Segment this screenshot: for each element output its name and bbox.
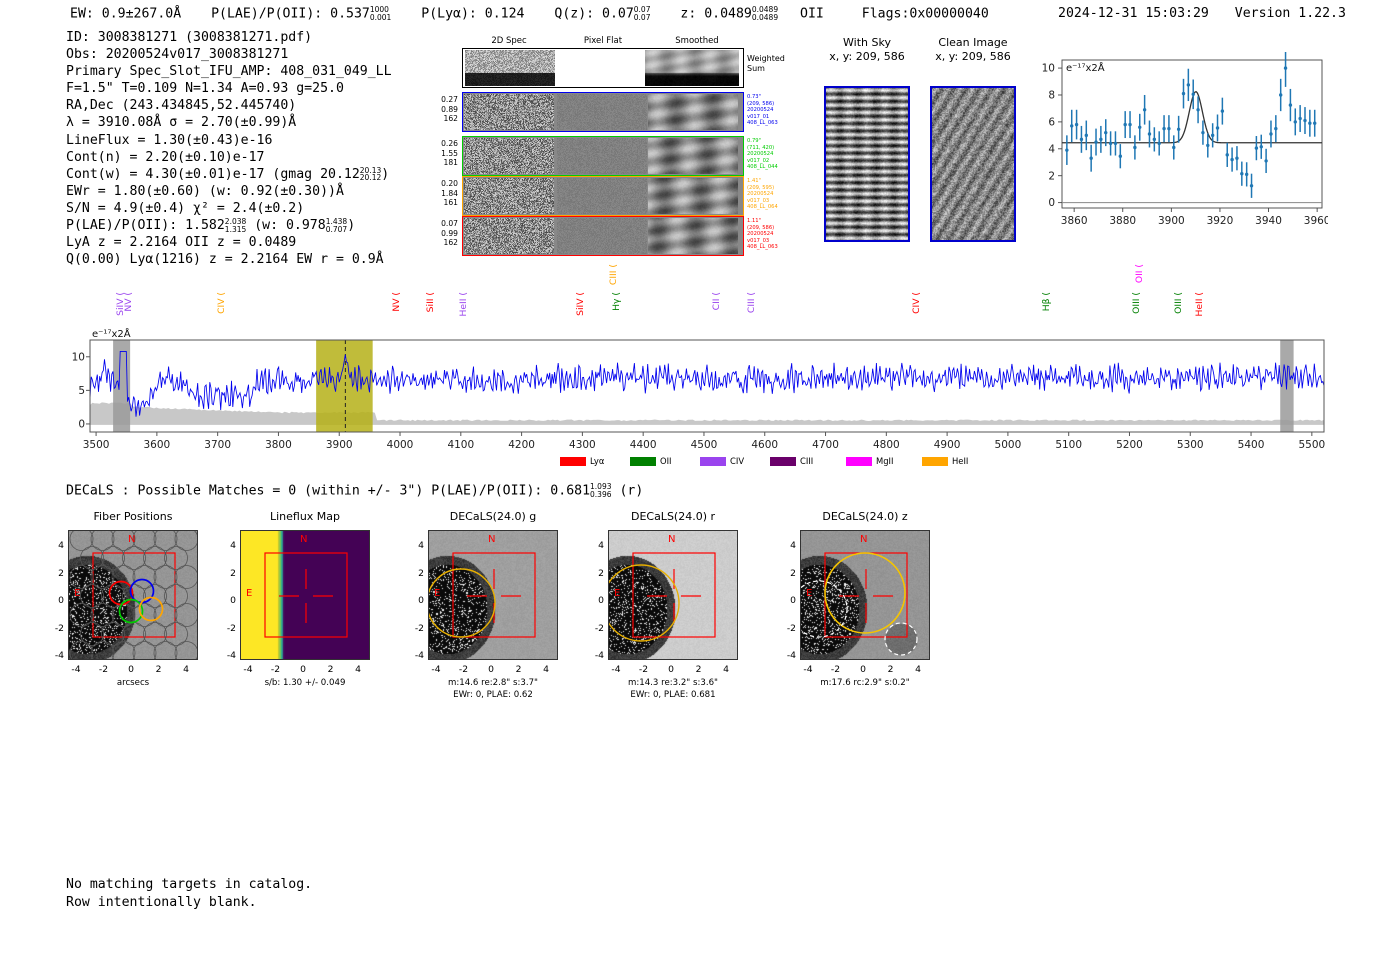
decals-header-post: (r) xyxy=(619,483,643,498)
compass-north-label: N xyxy=(488,534,495,545)
cutout-caption-line-0: m:14.3 re:3.2" s:3.6" xyxy=(578,678,768,690)
cutout-xtick: -4 xyxy=(606,664,626,675)
cutout-title: DECaLS(24.0) g xyxy=(408,510,578,523)
cutout-xtick: 0 xyxy=(481,664,501,675)
cutout-xtick: -4 xyxy=(798,664,818,675)
cutout-ytick: -4 xyxy=(588,650,604,661)
spectrum-error-band xyxy=(90,402,1324,425)
compass-north-label: N xyxy=(668,534,675,545)
decals-header-lo: 0.396 xyxy=(590,491,611,499)
cutout-title: Fiber Positions xyxy=(48,510,218,523)
cutout-overlay xyxy=(801,531,930,660)
cutout-ytick: 2 xyxy=(408,568,424,579)
cutout-caption-line-0: m:17.6 rc:2.9" s:0.2" xyxy=(770,678,960,690)
cutout-source-circle xyxy=(885,623,917,655)
compass-north-label: N xyxy=(300,534,307,545)
cutout-caption-line-0: m:14.6 re:2.8" s:3.7" xyxy=(398,678,588,690)
cutout-ytick: -2 xyxy=(780,623,796,634)
cutout-xtick: -4 xyxy=(426,664,446,675)
cutout-xtick: 4 xyxy=(536,664,556,675)
spectrum-xtick: 4100 xyxy=(447,439,474,451)
cutout-overlay xyxy=(241,531,370,660)
cutout-xtick: 0 xyxy=(121,664,141,675)
cutout-ytick: -4 xyxy=(408,650,424,661)
cutout-ytick: 0 xyxy=(588,595,604,606)
spectrum-highlight-region xyxy=(316,340,373,432)
compass-east-label: E xyxy=(246,588,252,599)
decals-cutout-row: Fiber PositionsNE420-2-4-4-2024arcsecsLi… xyxy=(0,0,1400,300)
cutout-xtick: 0 xyxy=(853,664,873,675)
cutout-xtick: -2 xyxy=(634,664,654,675)
cutout-caption: m:14.3 re:3.2" s:3.6"EWr: 0, PLAE: 0.681 xyxy=(578,678,768,701)
cutout-caption-line-1: EWr: 0, PLAE: 0.681 xyxy=(578,690,768,702)
cutout-ytick: -4 xyxy=(220,650,236,661)
full-spectrum-chart: 0510350036003700380039004000410042004300… xyxy=(66,270,1346,470)
cutout-image[interactable] xyxy=(68,530,198,660)
spectrum-xtick: 5400 xyxy=(1238,439,1265,451)
cutout-caption-line-0: s/b: 1.30 +/- 0.049 xyxy=(210,678,400,690)
cutout-aperture-circle xyxy=(609,565,679,641)
cutout-xtick: 2 xyxy=(509,664,529,675)
spectrum-xtick: 4000 xyxy=(387,439,414,451)
spectrum-xtick: 5100 xyxy=(1055,439,1082,451)
cutout-aperture-circle xyxy=(825,553,905,633)
cutout-xtick: -2 xyxy=(94,664,114,675)
cutout-ytick: 0 xyxy=(220,595,236,606)
compass-north-label: N xyxy=(128,534,135,545)
legend-label: Lyα xyxy=(590,456,604,466)
cutout-ytick: 0 xyxy=(780,595,796,606)
spectrum-xtick: 3900 xyxy=(326,439,353,451)
spectrum-xtick: 3700 xyxy=(204,439,231,451)
cutout-ytick: -2 xyxy=(48,623,64,634)
spectrum-xtick: 4500 xyxy=(691,439,718,451)
cutout-ytick: -4 xyxy=(780,650,796,661)
spectrum-xtick: 4600 xyxy=(751,439,778,451)
cutout-aperture-circle xyxy=(429,569,495,637)
cutout-image[interactable] xyxy=(240,530,370,660)
legend-swatch xyxy=(560,457,586,466)
cutout-xtick: 0 xyxy=(293,664,313,675)
spectrum-xtick: 4800 xyxy=(873,439,900,451)
compass-east-label: E xyxy=(806,588,812,599)
legend-label: CIV xyxy=(730,456,744,466)
legend-swatch xyxy=(770,457,796,466)
spectrum-xtick: 4700 xyxy=(812,439,839,451)
spectrum-xtick: 4300 xyxy=(569,439,596,451)
cutout-image[interactable] xyxy=(800,530,930,660)
compass-east-label: E xyxy=(434,588,440,599)
spectrum-xtick: 5000 xyxy=(995,439,1022,451)
spectrum-ytick: 0 xyxy=(78,418,85,430)
cutout-ytick: 2 xyxy=(48,568,64,579)
cutout-ytick: -2 xyxy=(220,623,236,634)
cutout-caption: m:14.6 re:2.8" s:3.7"EWr: 0, PLAE: 0.62 xyxy=(398,678,588,701)
full-spectrum-svg: 0510350036003700380039004000410042004300… xyxy=(66,270,1346,470)
cutout-caption: s/b: 1.30 +/- 0.049 xyxy=(210,678,400,690)
spectrum-units-annotation: e⁻¹⁷x2Å xyxy=(92,327,131,340)
spectrum-xtick: 3800 xyxy=(265,439,292,451)
cutout-title: DECaLS(24.0) r xyxy=(588,510,758,523)
cutout-overlay xyxy=(429,531,558,660)
cutout-ytick: 0 xyxy=(408,595,424,606)
cutout-image[interactable] xyxy=(608,530,738,660)
spectrum-xtick: 5500 xyxy=(1298,439,1325,451)
highlighted-fiber-circle xyxy=(110,582,133,605)
cutout-xtick: -2 xyxy=(266,664,286,675)
cutout-ytick: 4 xyxy=(780,540,796,551)
spectrum-xtick: 3600 xyxy=(143,439,170,451)
cutout-caption-line-1: EWr: 0, PLAE: 0.62 xyxy=(398,690,588,702)
cutout-ytick: -2 xyxy=(408,623,424,634)
cutout-xtick: 2 xyxy=(149,664,169,675)
legend-swatch xyxy=(700,457,726,466)
cutout-xtick: -4 xyxy=(66,664,86,675)
legend-swatch xyxy=(922,457,948,466)
spectrum-ytick: 10 xyxy=(72,351,85,363)
cutout-caption: arcsecs xyxy=(38,678,228,690)
cutout-ytick: 2 xyxy=(220,568,236,579)
cutout-ytick: 4 xyxy=(220,540,236,551)
cutout-xtick: 4 xyxy=(176,664,196,675)
cutout-title: Lineflux Map xyxy=(220,510,390,523)
cutout-xtick: 2 xyxy=(689,664,709,675)
footer-line-2: Row intentionally blank. xyxy=(66,894,312,912)
cutout-xtick: 2 xyxy=(321,664,341,675)
spectrum-xtick: 5200 xyxy=(1116,439,1143,451)
footer-note: No matching targets in catalog. Row inte… xyxy=(66,876,312,911)
legend-label: MgII xyxy=(876,456,893,466)
cutout-caption-line-0: arcsecs xyxy=(38,678,228,690)
cutout-xtick: -4 xyxy=(238,664,258,675)
cutout-image[interactable] xyxy=(428,530,558,660)
cutout-xtick: 4 xyxy=(908,664,928,675)
decals-match-header: DECaLS : Possible Matches = 0 (within +/… xyxy=(66,483,643,499)
cutout-xtick: 4 xyxy=(716,664,736,675)
cutout-xtick: -2 xyxy=(826,664,846,675)
cutout-ytick: 0 xyxy=(48,595,64,606)
spectrum-ytick: 5 xyxy=(78,385,85,397)
cutout-ytick: -2 xyxy=(588,623,604,634)
cutout-xtick: 0 xyxy=(661,664,681,675)
cutout-title: DECaLS(24.0) z xyxy=(780,510,950,523)
spectrum-xtick: 3500 xyxy=(83,439,110,451)
legend-label: OII xyxy=(660,456,672,466)
cutout-xtick: 4 xyxy=(348,664,368,675)
legend-label: HeII xyxy=(952,456,968,466)
cutout-caption: m:17.6 rc:2.9" s:0.2" xyxy=(770,678,960,690)
cutout-ytick: 2 xyxy=(588,568,604,579)
spectrum-xtick: 4200 xyxy=(508,439,535,451)
decals-header-pre: DECaLS : Possible Matches = 0 (within +/… xyxy=(66,483,590,498)
compass-east-label: E xyxy=(614,588,620,599)
cutout-ytick: -4 xyxy=(48,650,64,661)
compass-north-label: N xyxy=(860,534,867,545)
cutout-ytick: 4 xyxy=(408,540,424,551)
cutout-overlay xyxy=(609,531,738,660)
cutout-xtick: -2 xyxy=(454,664,474,675)
spectrum-xtick: 4900 xyxy=(934,439,961,451)
spectrum-xtick: 5300 xyxy=(1177,439,1204,451)
cutout-overlay xyxy=(69,531,198,660)
cutout-ytick: 4 xyxy=(48,540,64,551)
legend-swatch xyxy=(846,457,872,466)
cutout-ytick: 2 xyxy=(780,568,796,579)
legend-label: CIII xyxy=(800,456,813,466)
legend-swatch xyxy=(630,457,656,466)
cutout-xtick: 2 xyxy=(881,664,901,675)
cutout-red-box xyxy=(265,553,347,637)
footer-line-1: No matching targets in catalog. xyxy=(66,876,312,894)
compass-east-label: E xyxy=(74,588,80,599)
fiber-circles xyxy=(70,531,198,660)
spectrum-xtick: 4400 xyxy=(630,439,657,451)
cutout-ytick: 4 xyxy=(588,540,604,551)
spectrum-trace xyxy=(90,351,1324,416)
